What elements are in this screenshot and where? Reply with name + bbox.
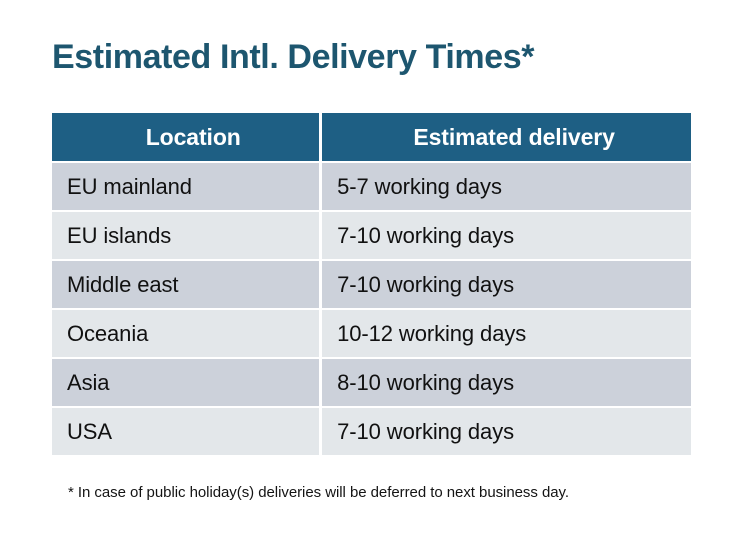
- table-body: EU mainland 5-7 working days EU islands …: [52, 161, 691, 455]
- table-header-row: Location Estimated delivery: [52, 113, 691, 161]
- delivery-times-table: Location Estimated delivery EU mainland …: [52, 113, 691, 455]
- cell-delivery: 7-10 working days: [322, 212, 691, 259]
- cell-delivery: 7-10 working days: [322, 408, 691, 455]
- cell-location: Asia: [52, 359, 319, 406]
- table-row: Oceania 10-12 working days: [52, 310, 691, 357]
- table-row: USA 7-10 working days: [52, 408, 691, 455]
- column-header-location: Location: [52, 113, 319, 161]
- table-row: Asia 8-10 working days: [52, 359, 691, 406]
- cell-location: USA: [52, 408, 319, 455]
- cell-delivery: 8-10 working days: [322, 359, 691, 406]
- cell-location: Middle east: [52, 261, 319, 308]
- table-row: EU mainland 5-7 working days: [52, 163, 691, 210]
- cell-delivery: 7-10 working days: [322, 261, 691, 308]
- column-header-estimated-delivery: Estimated delivery: [322, 113, 691, 161]
- table-row: Middle east 7-10 working days: [52, 261, 691, 308]
- footnote-text: * In case of public holiday(s) deliverie…: [68, 483, 569, 503]
- page-title: Estimated Intl. Delivery Times*: [52, 36, 534, 78]
- cell-delivery: 10-12 working days: [322, 310, 691, 357]
- cell-delivery: 5-7 working days: [322, 163, 691, 210]
- cell-location: EU mainland: [52, 163, 319, 210]
- cell-location: Oceania: [52, 310, 319, 357]
- cell-location: EU islands: [52, 212, 319, 259]
- table-row: EU islands 7-10 working days: [52, 212, 691, 259]
- delivery-times-panel: Estimated Intl. Delivery Times* Location…: [0, 0, 745, 536]
